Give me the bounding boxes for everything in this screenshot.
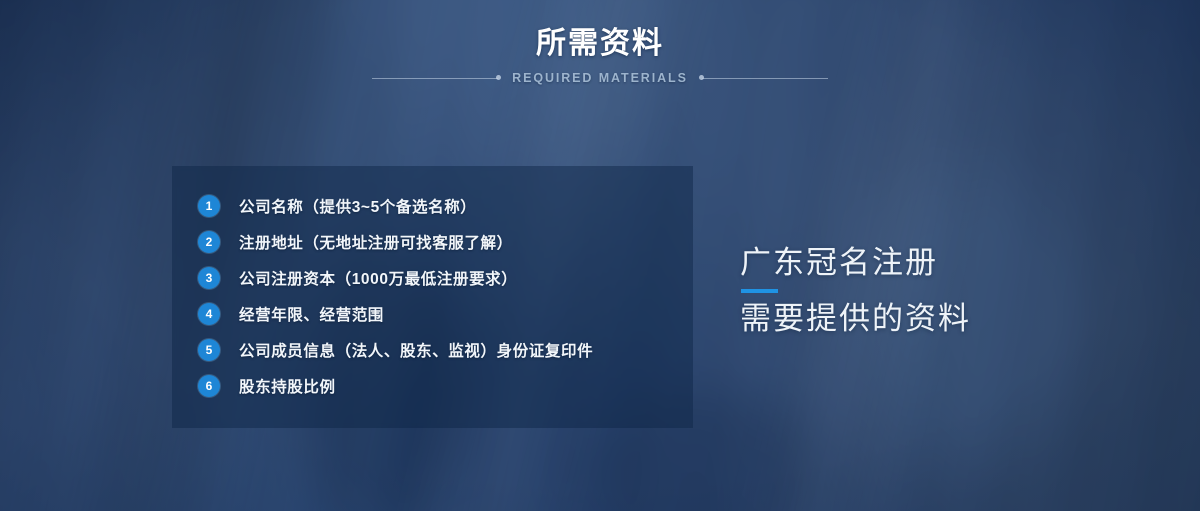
decorative-line-right — [702, 78, 828, 79]
list-item: 4 经营年限、经营范围 — [198, 296, 683, 332]
headline-line-2: 需要提供的资料 — [740, 302, 1140, 335]
subtitle-row: REQUIRED MATERIALS — [0, 69, 1200, 87]
list-item-label: 注册地址（无地址注册可找客服了解） — [239, 231, 513, 253]
required-materials-banner: 所需资料 REQUIRED MATERIALS 1 公司名称（提供3~5个备选名… — [0, 0, 1200, 511]
list-item-label: 经营年限、经营范围 — [239, 303, 384, 325]
list-item-label: 股东持股比例 — [239, 375, 336, 397]
page-title: 所需资料 — [0, 28, 1200, 60]
list-item: 6 股东持股比例 — [198, 368, 683, 404]
list-item: 2 注册地址（无地址注册可找客服了解） — [198, 224, 683, 260]
list-item-badge: 6 — [198, 375, 220, 397]
page-subtitle: REQUIRED MATERIALS — [512, 71, 688, 85]
list-item-badge: 4 — [198, 303, 220, 325]
headline-accent-rule — [741, 289, 778, 293]
decorative-line-left — [372, 78, 498, 79]
decorative-dot-left — [496, 75, 501, 80]
list-item-label: 公司成员信息（法人、股东、监视）身份证复印件 — [239, 339, 593, 361]
list-item-badge: 5 — [198, 339, 220, 361]
headline-block: 广东冠名注册 需要提供的资料 — [740, 246, 1140, 336]
list-item: 1 公司名称（提供3~5个备选名称） — [198, 188, 683, 224]
list-item-label: 公司注册资本（1000万最低注册要求） — [239, 267, 517, 289]
list-item: 5 公司成员信息（法人、股东、监视）身份证复印件 — [198, 332, 683, 368]
banner-header: 所需资料 REQUIRED MATERIALS — [0, 28, 1200, 87]
list-item: 3 公司注册资本（1000万最低注册要求） — [198, 260, 683, 296]
materials-list: 1 公司名称（提供3~5个备选名称） 2 注册地址（无地址注册可找客服了解） 3… — [198, 188, 683, 404]
list-item-badge: 2 — [198, 231, 220, 253]
materials-panel: 1 公司名称（提供3~5个备选名称） 2 注册地址（无地址注册可找客服了解） 3… — [172, 166, 693, 428]
list-item-badge: 3 — [198, 267, 220, 289]
headline-line-1: 广东冠名注册 — [740, 246, 1140, 279]
list-item-badge: 1 — [198, 195, 220, 217]
list-item-label: 公司名称（提供3~5个备选名称） — [239, 195, 476, 217]
